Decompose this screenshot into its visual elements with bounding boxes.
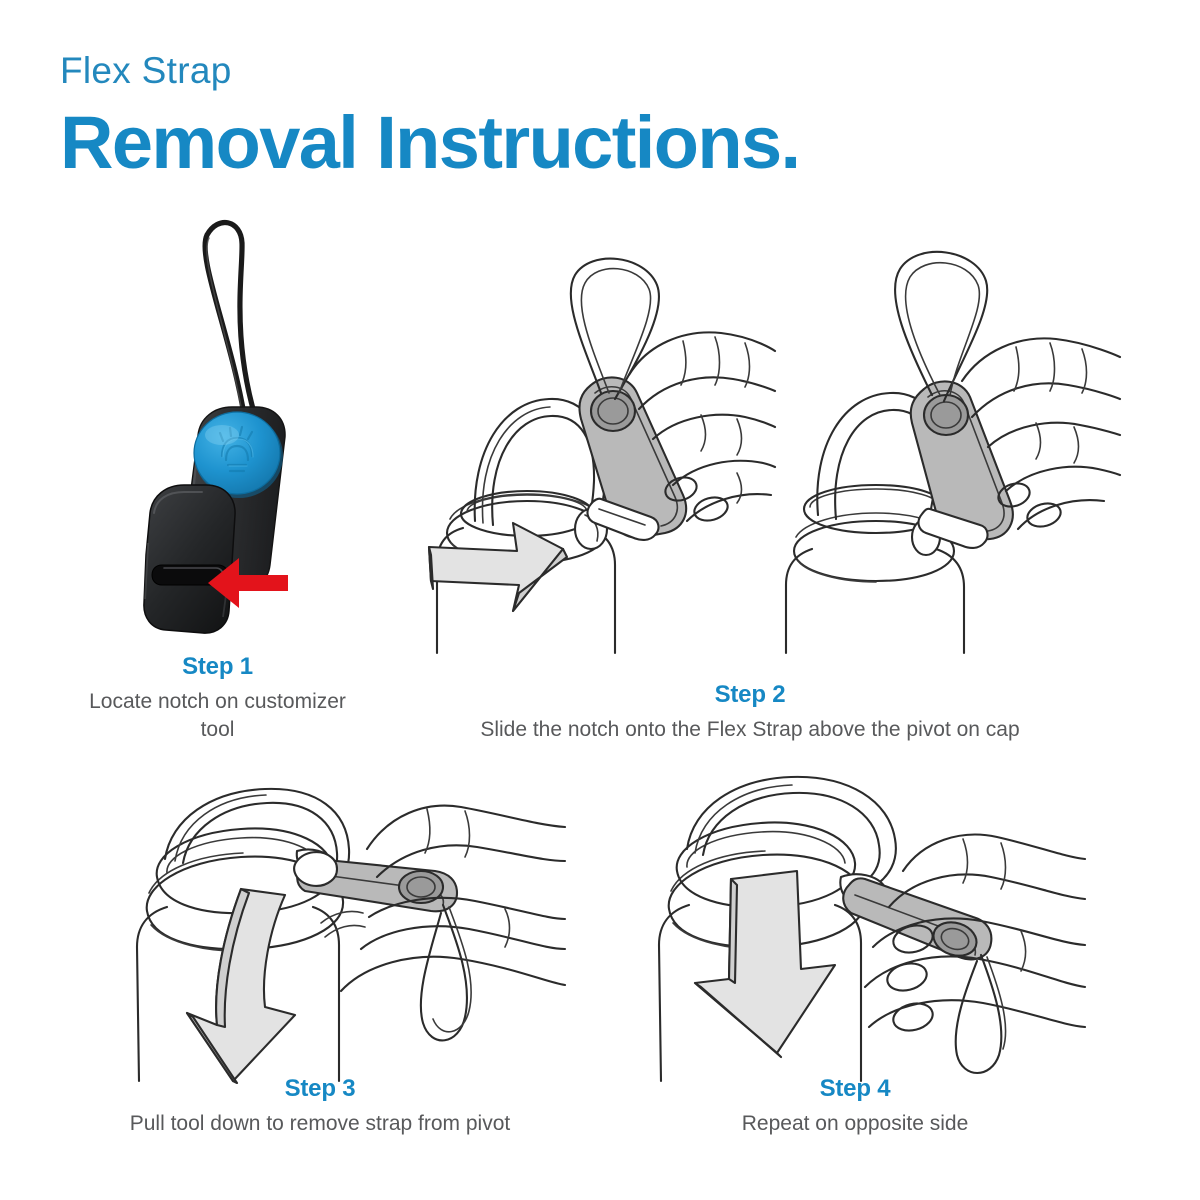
step-4-illustration bbox=[645, 761, 1085, 1081]
step-4-text: Repeat on opposite side bbox=[640, 1110, 1070, 1138]
steps-container: Step 1 Locate notch on customizer tool bbox=[0, 205, 1200, 1200]
step-1-label: Step 1 bbox=[75, 655, 360, 679]
tool-cord-loop bbox=[205, 222, 260, 431]
step-1-caption: Step 1 Locate notch on customizer tool bbox=[75, 655, 360, 743]
step-4-label: Step 4 bbox=[640, 1077, 1070, 1101]
step-1-text: Locate notch on customizer tool bbox=[75, 688, 360, 743]
product-name: Flex Strap bbox=[60, 52, 1140, 91]
tool-cord-loop-outline bbox=[895, 252, 987, 401]
tool-notch-hook bbox=[144, 485, 235, 633]
tool-cord-loop-outline bbox=[956, 955, 1006, 1073]
step-2-caption: Step 2 Slide the notch onto the Flex Str… bbox=[400, 683, 1100, 744]
customizer-tool-gray bbox=[579, 377, 686, 540]
step-3-text: Pull tool down to remove strap from pivo… bbox=[80, 1110, 560, 1138]
step-3-label: Step 3 bbox=[80, 1077, 560, 1101]
gray-arrow-down-curved-icon bbox=[187, 889, 295, 1083]
step-2-label: Step 2 bbox=[400, 683, 1100, 707]
gray-arrow-left-icon bbox=[429, 523, 567, 611]
customizer-tool-gray-pulled bbox=[294, 852, 457, 911]
step-4-caption: Step 4 Repeat on opposite side bbox=[640, 1077, 1070, 1138]
gray-arrow-down-icon bbox=[695, 871, 835, 1057]
steps-row-bottom: Step 3 Pull tool down to remove strap fr… bbox=[0, 757, 1200, 1197]
page-title: Removal Instructions. bbox=[60, 105, 1140, 180]
step-2-illustration-a bbox=[415, 233, 775, 653]
step-3-illustration bbox=[125, 761, 565, 1081]
step-3-caption: Step 3 Pull tool down to remove strap fr… bbox=[80, 1077, 560, 1138]
step-2-text: Slide the notch onto the Flex Strap abov… bbox=[400, 716, 1100, 744]
step-2-illustration-b bbox=[760, 233, 1120, 653]
step-1-illustration bbox=[110, 213, 430, 653]
customizer-tool-gray-engaged bbox=[911, 381, 1013, 548]
steps-row-top: Step 1 Locate notch on customizer tool bbox=[0, 205, 1200, 753]
page-header: Flex Strap Removal Instructions. bbox=[60, 52, 1140, 180]
